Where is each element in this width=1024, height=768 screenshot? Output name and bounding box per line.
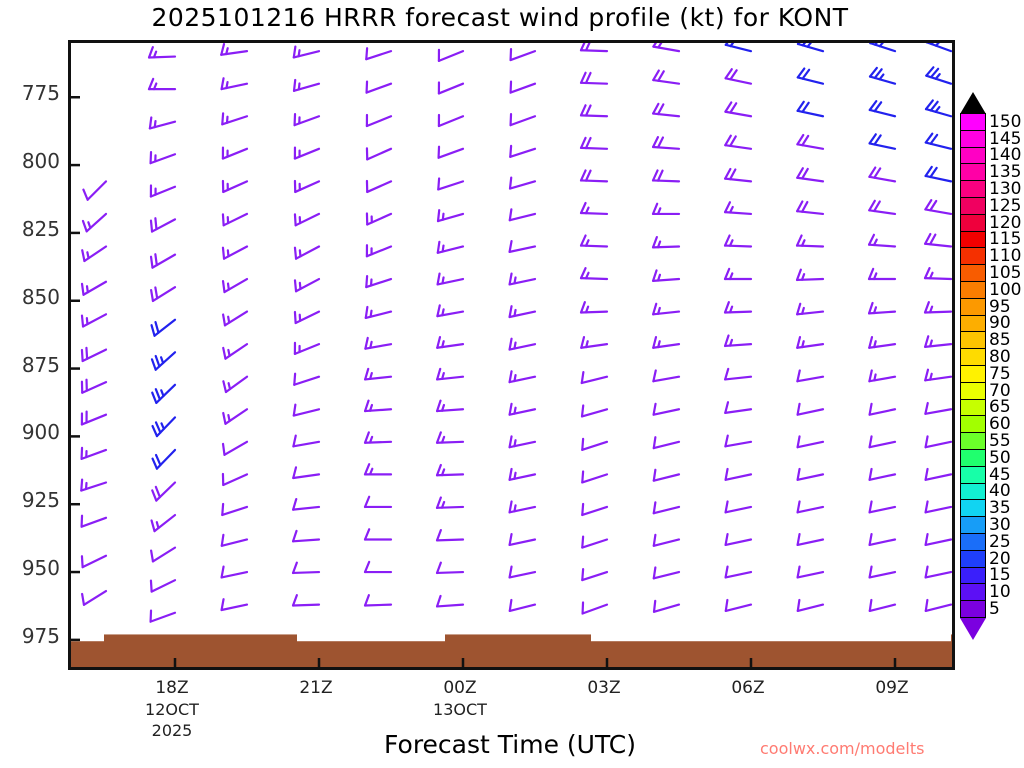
wind-barb bbox=[223, 181, 247, 192]
wind-barb bbox=[653, 71, 679, 84]
wind-barb bbox=[151, 611, 175, 622]
wind-barb bbox=[223, 246, 247, 258]
wind-barb bbox=[725, 369, 751, 380]
wind-barb bbox=[149, 47, 175, 57]
wind-barb bbox=[293, 499, 319, 510]
wind-barb bbox=[926, 600, 951, 611]
colorbar-swatch: 10 bbox=[960, 583, 986, 601]
colorbar-swatch: 120 bbox=[960, 214, 986, 232]
wind-barb bbox=[798, 43, 823, 51]
wind-barb bbox=[222, 567, 247, 578]
wind-barb bbox=[926, 100, 951, 116]
plot-canvas bbox=[71, 43, 952, 667]
wind-barb bbox=[798, 404, 823, 415]
wind-barb bbox=[926, 67, 951, 83]
colorbar-swatch: 20 bbox=[960, 550, 986, 568]
wind-barb bbox=[583, 603, 607, 614]
wind-barb bbox=[797, 370, 823, 381]
wind-barb bbox=[367, 115, 391, 126]
wind-barb bbox=[869, 168, 895, 182]
wind-barb bbox=[295, 343, 319, 354]
wind-barb bbox=[295, 246, 319, 258]
wind-barb bbox=[581, 73, 607, 84]
wind-barb bbox=[82, 448, 106, 459]
wind-barb bbox=[653, 337, 679, 348]
y-tick-label: 900 bbox=[2, 420, 60, 444]
wind-barb bbox=[366, 307, 391, 318]
colorbar-swatch: 15 bbox=[960, 567, 986, 585]
wind-barb bbox=[151, 218, 175, 231]
wind-barb bbox=[294, 405, 319, 416]
wind-barb bbox=[726, 469, 751, 480]
colorbar-over-arrow bbox=[960, 92, 986, 114]
wind-barb bbox=[653, 270, 679, 280]
wind-barb bbox=[293, 563, 319, 573]
colorbar-swatch: 90 bbox=[960, 315, 986, 333]
wind-barb bbox=[925, 370, 951, 381]
wind-barb bbox=[725, 269, 751, 279]
wind-barb bbox=[366, 276, 391, 287]
wind-barb bbox=[726, 534, 751, 545]
wind-barb bbox=[581, 302, 607, 312]
wind-barb bbox=[870, 43, 895, 51]
y-tick-label: 850 bbox=[2, 285, 60, 309]
wind-barb bbox=[726, 43, 751, 51]
wind-barb bbox=[152, 352, 175, 369]
wind-barb bbox=[152, 515, 175, 531]
wind-barb bbox=[365, 338, 391, 349]
wind-barb bbox=[437, 530, 463, 540]
wind-barb bbox=[365, 562, 391, 572]
wind-barb bbox=[437, 305, 463, 316]
wind-barb bbox=[581, 337, 607, 348]
wind-barb bbox=[726, 600, 751, 611]
wind-barb bbox=[581, 105, 607, 116]
wind-barb bbox=[869, 370, 895, 381]
x-tick-label: 06Z bbox=[703, 678, 793, 698]
wind-barb bbox=[437, 563, 463, 573]
colorbar-swatch: 5 bbox=[960, 600, 986, 618]
wind-barb bbox=[510, 600, 535, 611]
wind-barb bbox=[437, 337, 463, 348]
wind-barb bbox=[725, 136, 751, 149]
wind-barb bbox=[223, 312, 247, 326]
x-tick-label: 18Z bbox=[127, 678, 217, 698]
terrain-segment bbox=[591, 641, 951, 667]
wind-barb bbox=[582, 537, 607, 548]
wind-barb bbox=[82, 412, 106, 425]
wind-barb bbox=[797, 135, 823, 149]
wind-barb bbox=[367, 82, 391, 93]
wind-barb bbox=[870, 134, 895, 148]
colorbar-swatch: 30 bbox=[960, 516, 986, 534]
wind-barb bbox=[725, 302, 751, 312]
wind-barb bbox=[798, 600, 823, 611]
wind-barb bbox=[83, 214, 106, 231]
terrain-segment bbox=[951, 634, 952, 667]
wind-barb bbox=[295, 181, 319, 192]
colorbar-swatch: 125 bbox=[960, 197, 986, 215]
wind-barb bbox=[869, 303, 895, 313]
wind-barb bbox=[581, 43, 607, 51]
colorbar-swatch: 105 bbox=[960, 264, 986, 282]
wind-barb bbox=[295, 214, 319, 225]
wind-barb bbox=[798, 436, 823, 447]
wind-barb bbox=[797, 202, 823, 214]
colorbar-swatch: 115 bbox=[960, 231, 986, 249]
wind-barb bbox=[365, 464, 391, 474]
wind-barb bbox=[511, 114, 535, 125]
wind-barb bbox=[151, 287, 175, 301]
wind-barb bbox=[926, 469, 951, 480]
wind-barb bbox=[510, 436, 535, 447]
wind-barb bbox=[223, 344, 247, 359]
wind-barb bbox=[582, 405, 607, 416]
wind-barb bbox=[797, 236, 823, 247]
wind-barb bbox=[870, 567, 895, 578]
wind-barb bbox=[151, 152, 175, 163]
wind-barb bbox=[725, 169, 751, 181]
wind-profile-chart: 2025101216 HRRR forecast wind profile (k… bbox=[0, 0, 1024, 768]
wind-barb bbox=[150, 117, 175, 128]
y-tick-label: 825 bbox=[2, 217, 60, 241]
colorbar-swatch: 75 bbox=[960, 365, 986, 383]
wind-barb bbox=[581, 268, 607, 279]
wind-barb bbox=[295, 312, 319, 323]
x-tick-sublabel: 12OCT bbox=[127, 700, 217, 719]
wind-barb bbox=[510, 241, 535, 252]
wind-barb bbox=[510, 178, 535, 189]
wind-barb bbox=[82, 348, 106, 361]
x-tick-label: 09Z bbox=[847, 678, 937, 698]
terrain-layer bbox=[71, 634, 952, 667]
x-tick-label: 03Z bbox=[559, 678, 649, 698]
wind-barb bbox=[798, 69, 823, 84]
wind-barb bbox=[151, 254, 175, 267]
wind-barb bbox=[82, 556, 106, 567]
wind-barb bbox=[925, 336, 951, 347]
wind-barb bbox=[366, 48, 391, 59]
colorbar-under-arrow bbox=[960, 618, 986, 640]
wind-barb bbox=[725, 402, 751, 413]
wind-barb bbox=[654, 567, 679, 578]
wind-barb bbox=[926, 167, 951, 181]
wind-barb bbox=[439, 115, 463, 126]
colorbar-swatch: 65 bbox=[960, 399, 986, 417]
wind-barb bbox=[798, 502, 823, 513]
y-tick-label: 925 bbox=[2, 488, 60, 512]
x-tick-sublabel: 2025 bbox=[127, 721, 217, 740]
wind-barb bbox=[510, 146, 535, 157]
wind-barb bbox=[870, 101, 895, 116]
wind-barb bbox=[152, 320, 175, 336]
wind-barb bbox=[511, 82, 535, 93]
wind-barb bbox=[367, 181, 391, 192]
wind-barb bbox=[654, 601, 679, 612]
wind-barb bbox=[222, 599, 247, 610]
wind-barb bbox=[437, 465, 463, 475]
wind-barb bbox=[654, 470, 679, 481]
wind-barb bbox=[437, 596, 463, 606]
wind-barb bbox=[223, 474, 247, 485]
wind-barb bbox=[365, 497, 391, 507]
wind-barb bbox=[223, 442, 247, 455]
wind-barb bbox=[365, 595, 391, 605]
wind-barb bbox=[365, 432, 391, 442]
wind-barb bbox=[582, 504, 607, 515]
wind-barb bbox=[293, 595, 319, 605]
watermark: coolwx.com/modelts bbox=[760, 739, 924, 758]
colorbar-swatch: 40 bbox=[960, 483, 986, 501]
wind-barb bbox=[438, 210, 463, 221]
wind-barb bbox=[223, 214, 247, 225]
terrain-segment bbox=[445, 634, 591, 667]
wind-barb bbox=[582, 471, 607, 482]
colorbar-swatch: 110 bbox=[960, 247, 986, 265]
wind-barb bbox=[510, 306, 535, 317]
y-tick-label: 775 bbox=[2, 81, 60, 105]
wind-barb bbox=[367, 148, 391, 159]
y-tick-label: 875 bbox=[2, 353, 60, 377]
wind-barb bbox=[437, 432, 463, 442]
wind-barb bbox=[726, 567, 751, 578]
wind-barb bbox=[798, 469, 823, 480]
axis-tick-layer bbox=[71, 97, 895, 667]
wind-barb bbox=[870, 502, 895, 513]
wind-barb bbox=[797, 270, 823, 280]
wind-barb bbox=[82, 380, 106, 393]
wind-barb bbox=[926, 436, 951, 447]
wind-barb bbox=[82, 246, 106, 261]
wind-barb bbox=[510, 339, 535, 350]
colorbar-swatch: 100 bbox=[960, 281, 986, 299]
wind-barb bbox=[653, 370, 679, 381]
wind-barb bbox=[223, 148, 247, 159]
x-tick-label: 21Z bbox=[271, 678, 361, 698]
wind-barb bbox=[222, 535, 247, 546]
wind-barb bbox=[294, 374, 319, 385]
wind-barb bbox=[725, 102, 751, 116]
wind-barb bbox=[438, 178, 463, 189]
wind-barb bbox=[83, 181, 106, 199]
wind-barb bbox=[925, 403, 951, 414]
wind-barb bbox=[223, 279, 247, 292]
wind-barb bbox=[926, 534, 951, 545]
x-tick-label: 00Z bbox=[415, 678, 505, 698]
wind-barb bbox=[365, 401, 391, 411]
wind-barb bbox=[365, 529, 391, 539]
wind-barb bbox=[439, 82, 463, 93]
terrain-segment bbox=[104, 634, 297, 667]
wind-barb bbox=[582, 372, 607, 383]
wind-barb bbox=[82, 282, 106, 295]
wind-barb bbox=[869, 201, 895, 214]
wind-barb bbox=[510, 502, 535, 513]
wind-barb bbox=[581, 236, 607, 247]
wind-barb bbox=[437, 369, 463, 380]
wind-barb bbox=[223, 377, 247, 392]
wind-barb bbox=[510, 469, 535, 480]
colorbar-swatch: 45 bbox=[960, 466, 986, 484]
terrain-segment bbox=[71, 641, 104, 667]
wind-barb bbox=[221, 44, 247, 55]
plot-area bbox=[68, 40, 955, 670]
wind-barb bbox=[869, 337, 895, 348]
wind-barb bbox=[870, 534, 895, 545]
colorbar-swatch: 60 bbox=[960, 415, 986, 433]
wind-barb bbox=[438, 274, 463, 285]
wind-barb bbox=[222, 113, 247, 124]
wind-barb bbox=[869, 269, 895, 279]
wind-barb bbox=[870, 600, 895, 611]
wind-barb bbox=[870, 436, 895, 447]
colorbar-swatch: 145 bbox=[960, 130, 986, 148]
wind-barb bbox=[925, 302, 951, 312]
wind-barb bbox=[797, 304, 823, 315]
colorbar-swatch: 80 bbox=[960, 348, 986, 366]
wind-barb bbox=[510, 404, 535, 415]
wind-barb bbox=[798, 102, 823, 116]
wind-barb bbox=[510, 274, 535, 285]
y-tick-label: 950 bbox=[2, 556, 60, 580]
wind-barb bbox=[582, 569, 607, 580]
wind-barb bbox=[223, 409, 247, 424]
wind-barb bbox=[295, 114, 319, 125]
colorbar-swatch: 130 bbox=[960, 180, 986, 198]
wind-barb bbox=[870, 404, 895, 415]
wind-barb bbox=[725, 336, 751, 346]
wind-barb bbox=[925, 234, 951, 246]
wind-barb bbox=[222, 78, 247, 89]
wind-barb bbox=[511, 49, 535, 60]
wind-barb bbox=[926, 134, 951, 149]
wind-barb bbox=[367, 214, 391, 225]
wind-barb bbox=[149, 79, 175, 89]
x-tick-sublabel: 13OCT bbox=[415, 700, 505, 719]
wind-barb bbox=[153, 450, 175, 469]
wind-barb bbox=[151, 580, 175, 591]
wind-barb bbox=[870, 469, 895, 480]
wind-barb bbox=[581, 170, 607, 181]
wind-barb bbox=[437, 401, 463, 411]
wind-barb bbox=[654, 535, 679, 546]
wind-barb bbox=[82, 314, 106, 326]
wind-barb bbox=[725, 436, 751, 447]
colorbar-swatch: 55 bbox=[960, 432, 986, 450]
wind-barb bbox=[725, 236, 751, 247]
wind-barb bbox=[653, 43, 679, 51]
colorbar-swatch: 135 bbox=[960, 163, 986, 181]
wind-barb bbox=[654, 404, 679, 415]
wind-barb bbox=[293, 531, 319, 541]
wind-barb bbox=[82, 591, 106, 605]
wind-barb bbox=[927, 43, 951, 51]
wind-barb bbox=[293, 436, 319, 447]
wind-barb bbox=[151, 186, 175, 197]
wind-barb bbox=[654, 437, 679, 448]
wind-barb bbox=[295, 279, 319, 291]
wind-barb bbox=[152, 483, 175, 501]
colorbar-swatch: 150 bbox=[960, 113, 986, 131]
wind-barb bbox=[295, 148, 319, 159]
y-tick-label: 800 bbox=[2, 149, 60, 173]
wind-barb bbox=[926, 502, 951, 513]
chart-title: 2025101216 HRRR forecast wind profile (k… bbox=[0, 3, 1000, 32]
wind-barb bbox=[653, 137, 679, 149]
wind-barb bbox=[925, 200, 951, 214]
wind-barb bbox=[151, 548, 175, 562]
wind-barb bbox=[797, 337, 823, 348]
wind-barb bbox=[653, 237, 679, 247]
wind-barb bbox=[653, 304, 679, 315]
colorbar-swatch: 25 bbox=[960, 533, 986, 551]
wind-barb bbox=[798, 567, 823, 578]
wind-barb bbox=[726, 502, 751, 513]
colorbar-swatch: 140 bbox=[960, 147, 986, 165]
wind-barb bbox=[653, 170, 679, 181]
wind-barb bbox=[438, 242, 463, 253]
wind-barb bbox=[153, 417, 175, 436]
wind-barb bbox=[222, 504, 247, 515]
wind-barb bbox=[439, 147, 463, 158]
colorbar-swatch: 50 bbox=[960, 449, 986, 467]
wind-barb bbox=[653, 204, 679, 214]
wind-barb bbox=[294, 80, 319, 91]
wind-barb bbox=[510, 371, 535, 382]
wind-barb bbox=[82, 516, 106, 527]
wind-barb bbox=[510, 209, 535, 220]
y-tick-label: 975 bbox=[2, 624, 60, 648]
colorbar-swatch: 70 bbox=[960, 382, 986, 400]
colorbar: 1501451401351301251201151101051009590858… bbox=[960, 92, 986, 640]
wind-barb bbox=[653, 104, 679, 116]
colorbar-swatch: 35 bbox=[960, 499, 986, 517]
wind-barb bbox=[926, 567, 951, 578]
wind-barb bbox=[925, 268, 951, 279]
wind-barb bbox=[365, 369, 391, 380]
wind-barb bbox=[725, 202, 751, 214]
wind-barb bbox=[81, 480, 106, 491]
wind-barb bbox=[870, 68, 895, 84]
wind-barb bbox=[367, 245, 391, 256]
colorbar-swatch: 85 bbox=[960, 331, 986, 349]
wind-barb bbox=[437, 498, 463, 508]
wind-barb bbox=[797, 168, 823, 181]
x-axis-title: Forecast Time (UTC) bbox=[300, 730, 720, 759]
wind-barb bbox=[152, 385, 175, 403]
colorbar-tick-label: 5 bbox=[989, 599, 1000, 619]
wind-barb bbox=[581, 138, 607, 149]
wind-barb bbox=[293, 467, 319, 478]
wind-barb bbox=[439, 50, 463, 61]
wind-barb bbox=[869, 235, 895, 247]
wind-barb bbox=[510, 534, 535, 545]
wind-barb bbox=[582, 439, 607, 450]
wind-barb bbox=[798, 534, 823, 545]
wind-barb bbox=[510, 567, 535, 578]
colorbar-swatch: 95 bbox=[960, 298, 986, 316]
wind-barb bbox=[294, 47, 319, 58]
wind-barb-layer bbox=[81, 43, 951, 622]
wind-barb bbox=[581, 203, 607, 214]
wind-barb bbox=[726, 69, 751, 83]
wind-barb bbox=[654, 502, 679, 513]
